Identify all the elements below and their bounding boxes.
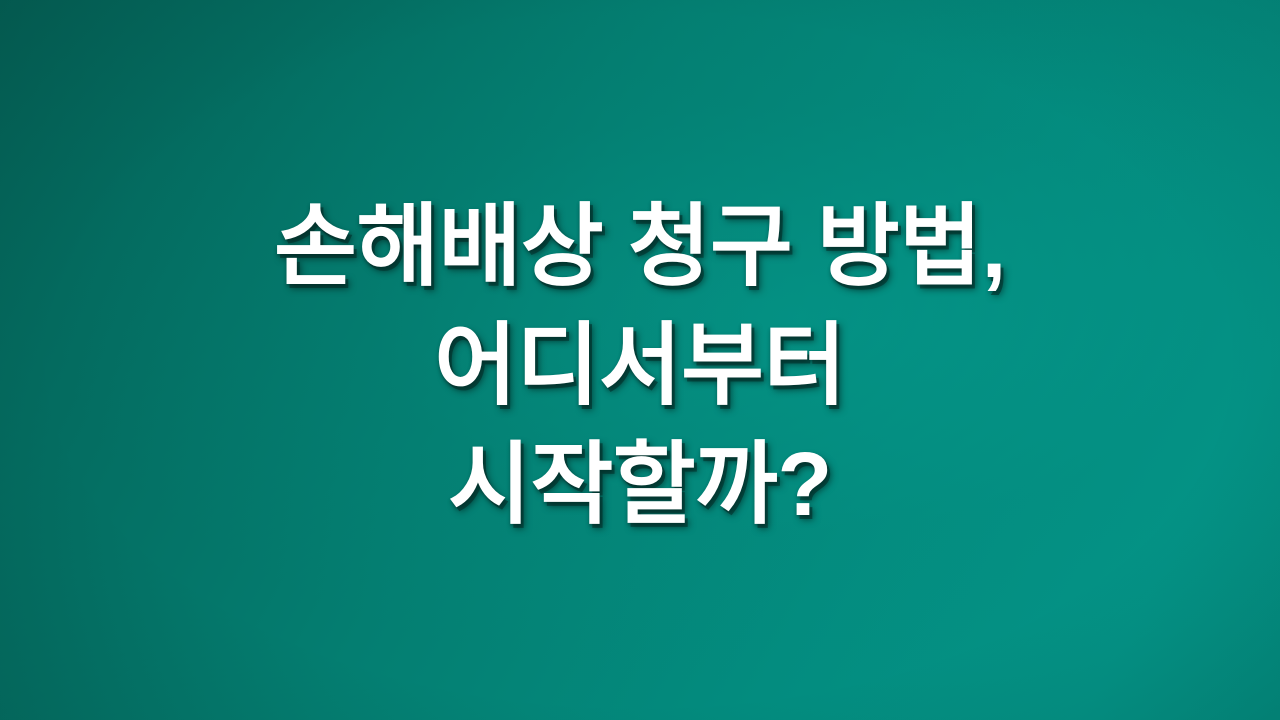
title-card-stage: 손해배상 청구 방법, 어디서부터 시작할까? [0,0,1280,720]
title-line-1: 손해배상 청구 방법, [274,188,1006,307]
title-block: 손해배상 청구 방법, 어디서부터 시작할까? [0,0,1280,720]
title-line-2: 어디서부터 [434,307,846,426]
title-line-3: 시작할까? [448,426,832,545]
